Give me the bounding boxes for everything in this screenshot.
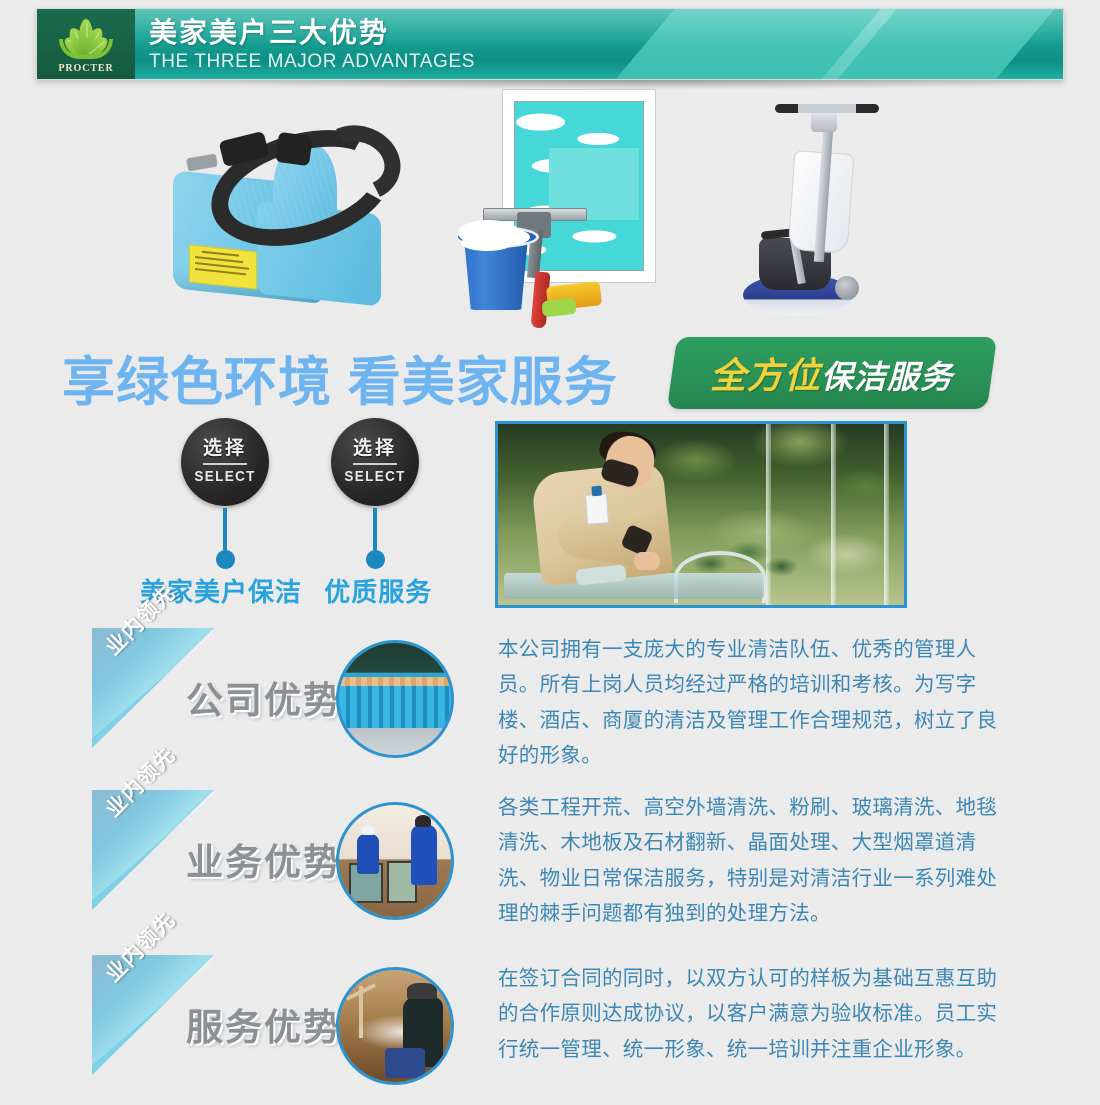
logo-wordmark: PROCTER xyxy=(58,63,113,74)
advantage-title: 业务优势 xyxy=(186,832,342,886)
select-circle-label-en: SELECT xyxy=(194,468,255,485)
banner-title-en: THE THREE MAJOR ADVANTAGES xyxy=(149,51,475,73)
company-logo: PROCTER xyxy=(37,9,135,80)
advantage-section-service: 业内领先 服务优势 在签订合同的同时，以双方认可的样板为基础互惠互助的合作原则达… xyxy=(0,955,1100,1105)
select-caption-2: 优质服务 xyxy=(324,577,432,607)
banner-title-cn: 美家美户三大优势 xyxy=(149,18,475,49)
leaves-icon xyxy=(49,17,123,61)
ulv-sprayer-image xyxy=(165,100,415,320)
select-circle-icon: 选择 SELECT xyxy=(331,418,419,506)
advantage-description: 本公司拥有一支庞大的专业清洁队伍、优秀的管理人员。所有上岗人员均经过严格的培训和… xyxy=(498,632,1014,773)
window-cleaning-illustration xyxy=(455,90,685,320)
badge-main-text: 保洁服务 xyxy=(822,359,954,395)
hero-headline: 享绿色环境 看美家服务 xyxy=(62,340,618,416)
connector-dot-icon xyxy=(366,550,385,569)
connector-line xyxy=(373,508,377,550)
select-circle-label-en: SELECT xyxy=(344,468,405,485)
advantage-title: 公司优势 xyxy=(186,670,342,724)
select-circle-label-cn: 选择 xyxy=(353,439,397,465)
sprayer-spec-label xyxy=(189,244,257,289)
floor-polisher-image xyxy=(735,88,925,328)
select-circle-icon: 选择 SELECT xyxy=(181,418,269,506)
worker-cleaning-photo xyxy=(495,421,907,608)
connector-dot-icon xyxy=(216,550,235,569)
connector-line xyxy=(223,508,227,550)
advantage-description: 在签订合同的同时，以双方认可的样板为基础互惠互助的合作原则达成协议，以客户满意为… xyxy=(498,961,1014,1067)
advantage-photo-team xyxy=(336,640,454,758)
select-badge-2[interactable]: 选择 SELECT xyxy=(305,418,445,569)
bucket-icon xyxy=(455,218,541,310)
advantage-photo-spray xyxy=(336,967,454,1085)
advantage-description: 各类工程开荒、高空外墙清洗、粉刷、玻璃清洗、地毯清洗、木地板及石材翻新、晶面处理… xyxy=(498,790,1014,931)
sponge-icon xyxy=(546,281,602,311)
all-round-service-badge: 全方位保洁服务 xyxy=(667,337,997,409)
advantage-title: 服务优势 xyxy=(186,997,342,1051)
select-circle-label-cn: 选择 xyxy=(203,439,247,465)
badge-highlight-text: 全方位 xyxy=(710,355,821,396)
advantage-photo-indoor xyxy=(336,802,454,920)
page-header-banner: PROCTER 美家美户三大优势 THE THREE MAJOR ADVANTA… xyxy=(36,8,1064,80)
banner-title-group: 美家美户三大优势 THE THREE MAJOR ADVANTAGES xyxy=(149,18,475,73)
employee-id-badge xyxy=(585,493,609,524)
select-badge-1[interactable]: 选择 SELECT xyxy=(155,418,295,569)
banner-background: PROCTER 美家美户三大优势 THE THREE MAJOR ADVANTA… xyxy=(36,8,1064,80)
product-image-row xyxy=(0,84,1100,340)
